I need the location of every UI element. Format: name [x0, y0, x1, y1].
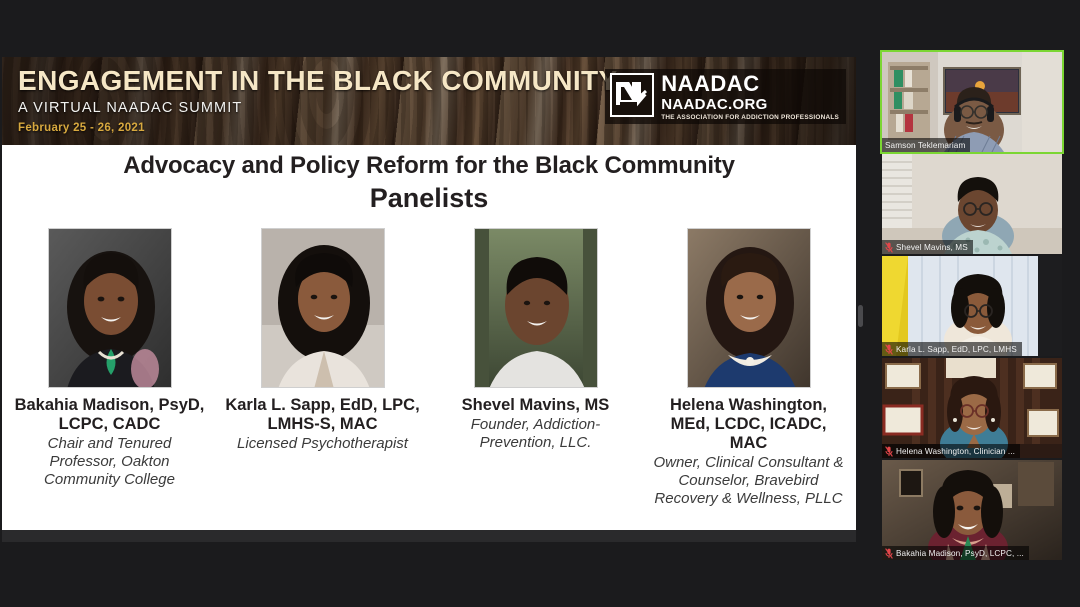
slide-banner: ENGAGEMENT IN THE BLACK COMMUNITY A VIRT… [2, 57, 856, 145]
video-tile-karla-sapp[interactable]: Karla L. Sapp, EdD, LPC, LMHS [882, 256, 1062, 356]
headshot-bakahia-madison [48, 228, 172, 388]
panelist-role: Founder, Addiction-Prevention, LLC. [438, 416, 633, 452]
participant-name: Karla L. Sapp, EdD, LPC, LMHS [896, 345, 1017, 354]
video-feed [882, 154, 1062, 254]
video-tile-shevel-mavins[interactable]: Shevel Mavins, MS [882, 154, 1062, 254]
naadac-logo: NAADAC NAADAC.ORG THE ASSOCIATION FOR AD… [605, 69, 846, 124]
tile-label: Samson Teklemariam [882, 138, 970, 152]
panelist-role: Chair and Tenured Professor, Oakton Comm… [12, 435, 207, 489]
panelist-name: Helena Washington, MEd, LCDC, ICADC, MAC [651, 396, 846, 453]
video-tile-samson-teklemariam[interactable]: Samson Teklemariam [882, 52, 1062, 152]
slide-body: Advocacy and Policy Reform for the Black… [2, 145, 856, 530]
headshot-shevel-mavins [474, 228, 598, 388]
microphone-muted-icon [885, 242, 893, 253]
microphone-muted-icon [885, 548, 893, 559]
tile-label: Shevel Mavins, MS [882, 240, 973, 254]
participant-name: Shevel Mavins, MS [896, 243, 968, 252]
participant-name: Bakahia Madison, PsyD, LCPC, ... [896, 549, 1024, 558]
slide-heading: Advocacy and Policy Reform for the Black… [2, 151, 856, 181]
panelist-name: Bakahia Madison, PsyD, LCPC, CADC [12, 396, 207, 434]
slide-bottom-shadow [2, 530, 856, 542]
video-tile-helena-washington[interactable]: Helena Washington, Clinician ... [882, 358, 1062, 458]
naadac-bird-logo-mark [610, 73, 654, 117]
video-feed [882, 52, 1062, 152]
panelist-role: Licensed Psychotherapist [237, 435, 408, 453]
share-panel-divider[interactable] [856, 57, 866, 530]
naadac-logo-wordmark: NAADAC NAADAC.ORG THE ASSOCIATION FOR AD… [661, 73, 839, 121]
tile-label: Bakahia Madison, PsyD, LCPC, ... [882, 546, 1029, 560]
video-feed [882, 256, 1062, 356]
summit-title: ENGAGEMENT IN THE BLACK COMMUNITY [18, 66, 618, 95]
headshot-helena-washington [687, 228, 811, 388]
video-feed [882, 460, 1062, 560]
summit-subtitle: A VIRTUAL NAADAC SUMMIT [18, 100, 618, 116]
panelist-name: Karla L. Sapp, EdD, LPC, LMHS-S, MAC [225, 396, 420, 434]
participant-name: Samson Teklemariam [885, 141, 965, 150]
panelist-grid: Bakahia Madison, PsyD, LCPC, CADC Chair … [2, 228, 856, 508]
microphone-muted-icon [885, 344, 893, 355]
panelist-name: Shevel Mavins, MS [462, 396, 610, 415]
tile-label: Karla L. Sapp, EdD, LPC, LMHS [882, 342, 1022, 356]
shared-screen-region[interactable]: ENGAGEMENT IN THE BLACK COMMUNITY A VIRT… [0, 0, 866, 607]
banner-text-block: ENGAGEMENT IN THE BLACK COMMUNITY A VIRT… [18, 66, 618, 134]
participant-filmstrip[interactable]: Samson Teklemariam [882, 52, 1068, 564]
video-tile-bakahia-madison[interactable]: Bakahia Madison, PsyD, LCPC, ... [882, 460, 1062, 560]
participant-name: Helena Washington, Clinician ... [896, 447, 1015, 456]
presentation-slide: ENGAGEMENT IN THE BLACK COMMUNITY A VIRT… [2, 57, 856, 530]
logo-line-1: NAADAC [661, 73, 839, 95]
logo-line-3: THE ASSOCIATION FOR ADDICTION PROFESSION… [661, 115, 839, 121]
headshot-karla-sapp [261, 228, 385, 388]
panelist-card: Helena Washington, MEd, LCDC, ICADC, MAC… [651, 228, 846, 508]
slide-subheading: Panelists [2, 183, 856, 214]
panelist-card: Shevel Mavins, MS Founder, Addiction-Pre… [438, 228, 633, 452]
panelist-card: Karla L. Sapp, EdD, LPC, LMHS-S, MAC Lic… [225, 228, 420, 453]
video-feed [882, 358, 1062, 458]
panelist-card: Bakahia Madison, PsyD, LCPC, CADC Chair … [12, 228, 207, 489]
microphone-muted-icon [885, 446, 893, 457]
panelist-role: Owner, Clinical Consultant & Counselor, … [651, 454, 846, 508]
tile-label: Helena Washington, Clinician ... [882, 444, 1020, 458]
meeting-window: ENGAGEMENT IN THE BLACK COMMUNITY A VIRT… [0, 0, 1080, 607]
summit-date: February 25 - 26, 2021 [18, 122, 618, 134]
logo-line-2: NAADAC.ORG [661, 97, 839, 112]
divider-drag-handle[interactable] [858, 305, 863, 327]
